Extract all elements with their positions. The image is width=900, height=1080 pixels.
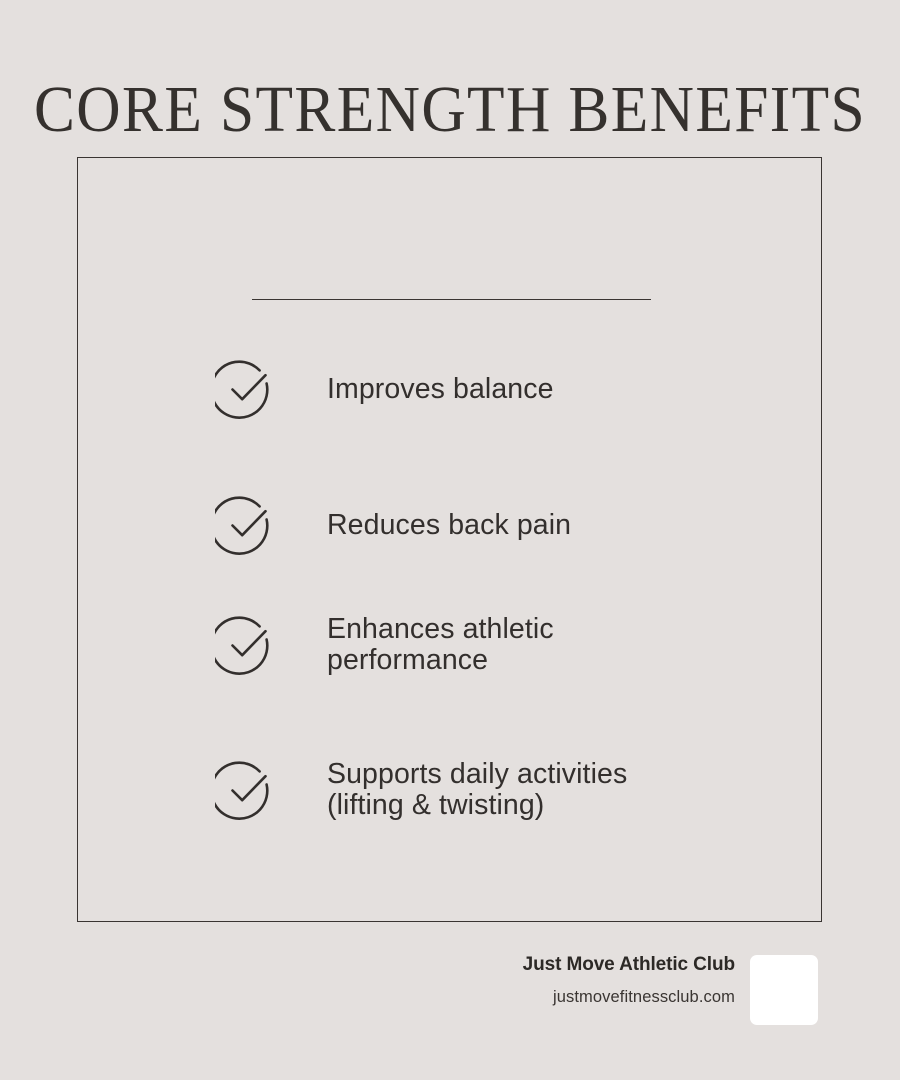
list-item: Supports daily activities (lifting & twi… <box>215 759 627 821</box>
logo-placeholder <box>750 955 818 1025</box>
footer-text-block: Just Move Athletic Club justmovefitnessc… <box>523 952 735 1008</box>
check-circle-icon <box>215 614 277 676</box>
list-item: Enhances athletic performance <box>215 614 554 676</box>
list-item: Improves balance <box>215 358 554 420</box>
check-circle-icon <box>215 494 277 556</box>
check-circle-icon <box>215 358 277 420</box>
list-item-label: Supports daily activities (lifting & twi… <box>327 759 627 821</box>
page-title: CORE STRENGTH BENEFITS <box>32 74 869 146</box>
benefit-list: Improves balance Reduces back pain Enhan… <box>78 158 821 921</box>
brand-name: Just Move Athletic Club <box>523 952 735 977</box>
list-item-label: Reduces back pain <box>327 510 571 541</box>
benefits-panel: Improves balance Reduces back pain Enhan… <box>77 157 822 922</box>
footer: Just Move Athletic Club justmovefitnessc… <box>0 952 900 1042</box>
check-circle-icon <box>215 759 277 821</box>
list-item-label: Enhances athletic performance <box>327 614 554 676</box>
website-url: justmovefitnessclub.com <box>523 986 735 1008</box>
list-item: Reduces back pain <box>215 494 571 556</box>
list-item-label: Improves balance <box>327 374 554 405</box>
